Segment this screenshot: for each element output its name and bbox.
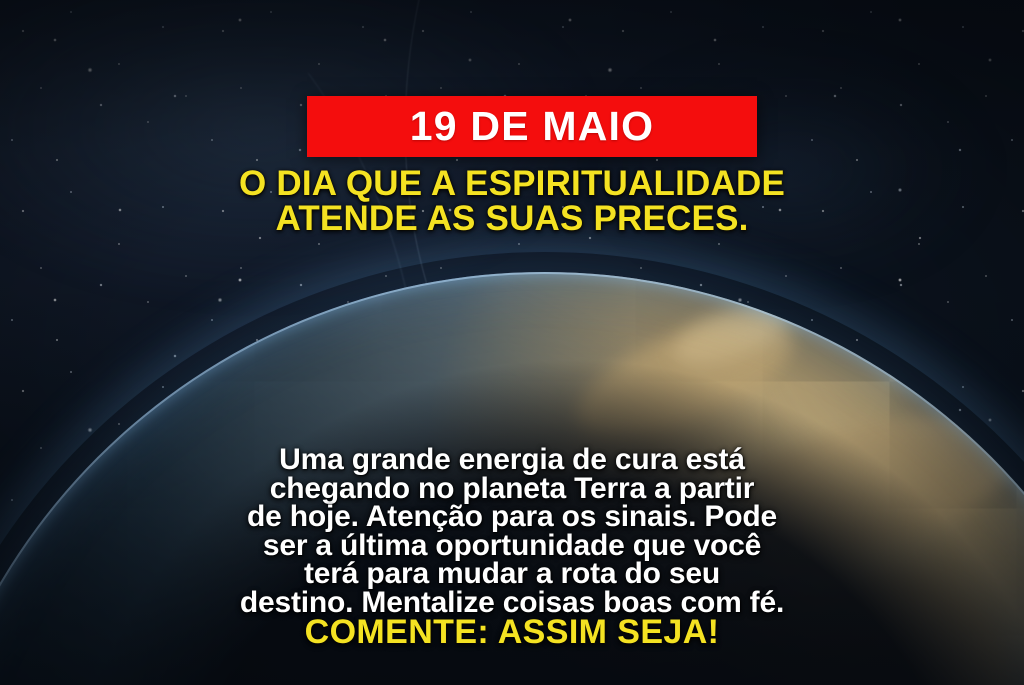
body-line-4: ser a última oportunidade que você bbox=[0, 532, 1024, 561]
headline-line-1: O DIA QUE A ESPIRITUALIDADE bbox=[0, 166, 1024, 201]
headline: O DIA QUE A ESPIRITUALIDADE ATENDE AS SU… bbox=[0, 166, 1024, 236]
body-line-1: Uma grande energia de cura está bbox=[0, 446, 1024, 475]
call-to-action: COMENTE: ASSIM SEJA! bbox=[0, 614, 1024, 650]
poster-canvas: 19 DE MAIO O DIA QUE A ESPIRITUALIDADE A… bbox=[0, 0, 1024, 685]
poster-content: 19 DE MAIO O DIA QUE A ESPIRITUALIDADE A… bbox=[0, 0, 1024, 685]
headline-line-2: ATENDE AS SUAS PRECES. bbox=[0, 201, 1024, 236]
body-line-2: chegando no planeta Terra a partir bbox=[0, 475, 1024, 504]
body-copy: Uma grande energia de cura está chegando… bbox=[0, 446, 1024, 617]
call-to-action-text: COMENTE: ASSIM SEJA! bbox=[305, 613, 720, 651]
body-line-3: de hoje. Atenção para os sinais. Pode bbox=[0, 503, 1024, 532]
date-banner: 19 DE MAIO bbox=[307, 96, 757, 157]
date-banner-text: 19 DE MAIO bbox=[410, 106, 654, 147]
body-line-5: terá para mudar a rota do seu bbox=[0, 560, 1024, 589]
